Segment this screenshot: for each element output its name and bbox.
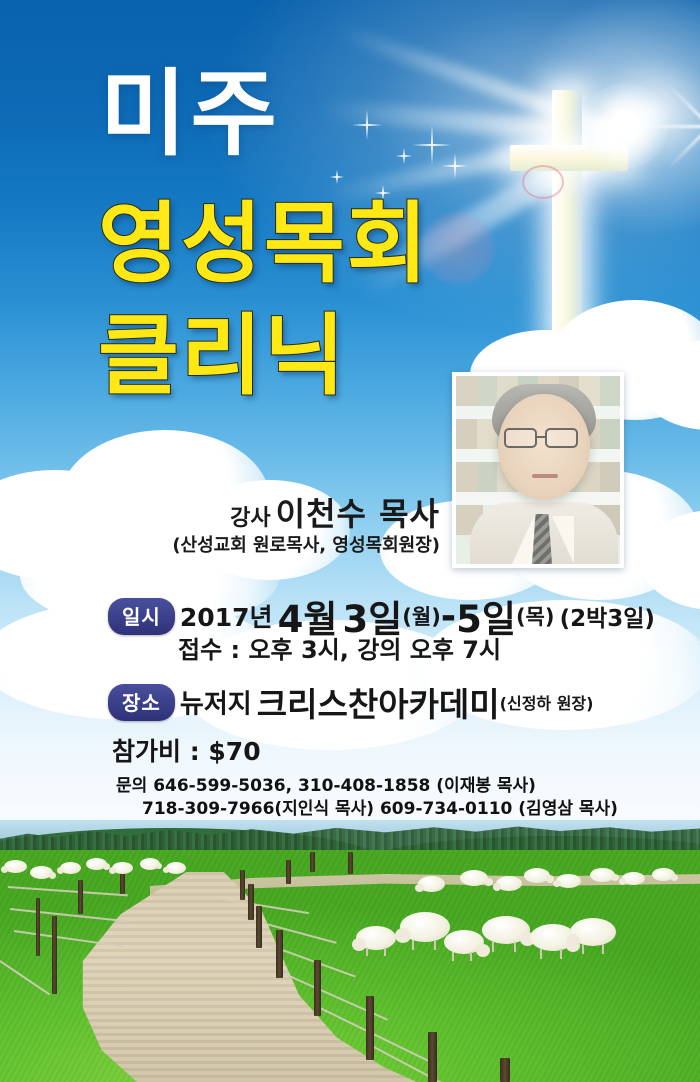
lens-flare-icon [420,210,496,286]
star-icon [442,153,468,179]
star-icon [330,170,344,184]
star-icon [396,148,412,164]
fence-post [256,906,262,948]
fence-post [286,860,291,884]
sheep-icon [460,870,492,888]
fence-post [500,1058,510,1082]
fence-post [366,996,374,1060]
sheep-icon [60,862,84,876]
title-line-3: 클리닉 [98,312,347,400]
lens-flare-ring [522,165,564,199]
reception-time: 접수 : 오후 3시, 강의 오후 7시 [178,630,501,665]
date-year: 2017년 [180,603,273,632]
sheep-icon [4,860,30,875]
fee-text: 참가비 : $70 [112,732,261,768]
sheep-icon [556,874,584,890]
venue-name: 크리스찬아카데미 [257,685,500,724]
contact-line-1: 문의 646-599-5036, 310-408-1858 (이재봉 목사) [116,776,536,796]
eyeglasses-icon [504,428,537,448]
fence-post [52,916,57,994]
sheep-icon [30,866,56,881]
pasture-scene [0,820,700,1082]
date-weekday-end: (목) [516,605,555,629]
poster: 미주 영성목회 클리닉 [0,0,700,1082]
speaker-name: 이천수 목사 [276,495,440,533]
eyeglasses-icon [545,428,578,448]
fence-post [348,852,353,874]
venue-row: 장소 뉴저지 크리스찬아카데미(신정하 원장) [108,678,593,726]
date-duration: (2박3일) [560,606,655,632]
speaker-subtitle: (산성교회 원로목사, 영성목회원장) [0,531,440,557]
date-weekday-start: (월) [402,605,441,629]
speaker-prefix: 강사 [230,506,270,531]
title-line-1: 미주 [100,68,281,162]
fence-post [36,898,40,956]
date-badge: 일시 [108,598,175,635]
sheep-icon [622,872,648,887]
sheep-icon [166,862,188,875]
sheep-icon [496,876,526,893]
sheep-icon [418,876,448,894]
speaker-line: 강사 이천수 목사 [0,489,440,535]
sheep-icon [590,868,618,884]
star-icon [352,110,382,140]
venue-director: (신정하 원장) [500,694,594,713]
contact-line-2: 718-309-7966(지인식 목사) 609-734-0110 (김영삼 목… [116,798,618,821]
fence-post [276,930,283,978]
sheep-icon [570,918,620,950]
sheep-icon [86,858,110,872]
sheep-icon [652,868,678,883]
sheep-icon [356,926,400,954]
contact-block: 문의 646-599-5036, 310-408-1858 (이재봉 목사) 7… [116,775,618,821]
fence-post [314,960,321,1016]
sheep-icon [112,862,136,876]
sheep-icon [140,858,162,871]
fence-post [248,884,254,920]
fence-post [310,852,315,872]
fence-post [78,880,83,914]
cross-vertical-bar [552,90,582,340]
fence-post [428,1032,437,1082]
speaker-portrait [452,372,624,568]
title-line-2: 영성목회 [98,200,430,288]
sheep-icon [524,868,554,885]
venue-region: 뉴저지 [180,690,252,720]
sheep-icon [482,916,534,948]
venue-badge: 장소 [108,684,175,721]
fence-post [240,870,245,900]
